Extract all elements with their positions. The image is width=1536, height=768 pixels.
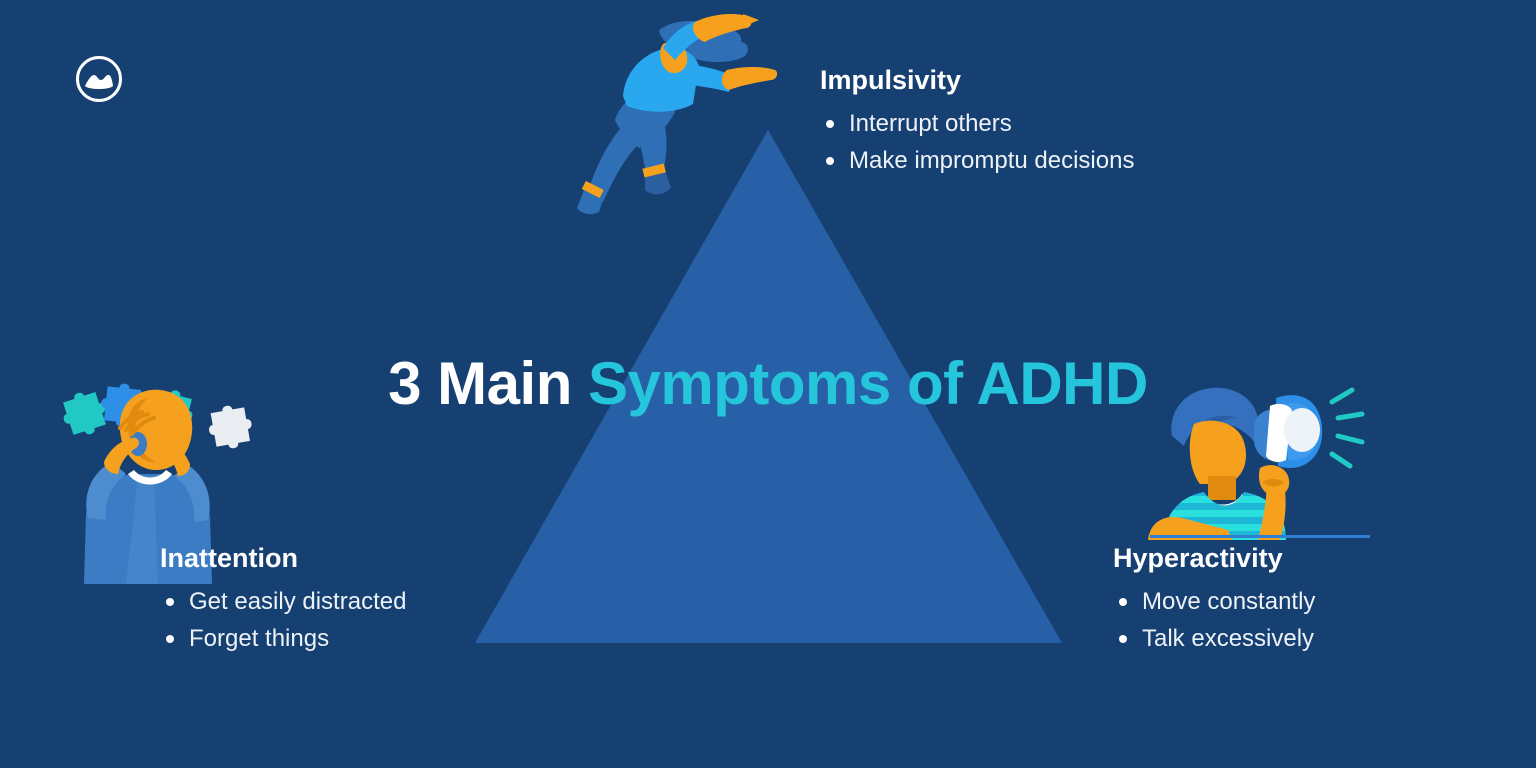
bullet-text: Get easily distracted	[189, 588, 406, 615]
symptom-bullet-list-inattention: Get easily distracted Forget things	[160, 583, 406, 657]
list-item: Get easily distracted	[160, 583, 406, 620]
symptom-block-hyperactivity: Hyperactivity Move constantly Talk exces…	[1113, 542, 1315, 657]
bullet-text: Make impromptu decisions	[849, 147, 1134, 174]
list-item: Make impromptu decisions	[820, 142, 1134, 179]
page-title-part-cyan: Symptoms of ADHD	[588, 350, 1148, 417]
bullet-text: Talk excessively	[1142, 625, 1314, 652]
page-title-part-white: 3 Main	[388, 350, 588, 417]
symptom-title-impulsivity: Impulsivity	[820, 64, 1134, 96]
bullet-dot-icon	[166, 598, 174, 606]
desk-line	[1150, 535, 1370, 538]
bullet-text: Forget things	[189, 625, 329, 652]
list-item: Forget things	[160, 620, 406, 657]
bullet-dot-icon	[826, 157, 834, 165]
list-item: Interrupt others	[820, 105, 1134, 142]
symptom-bullet-list-hyperactivity: Move constantly Talk excessively	[1113, 583, 1315, 657]
list-item: Talk excessively	[1113, 620, 1315, 657]
bullet-dot-icon	[1119, 635, 1127, 643]
symptom-block-inattention: Inattention Get easily distracted Forget…	[160, 542, 406, 657]
bullet-text: Interrupt others	[849, 110, 1012, 137]
page-title: 3 Main Symptoms of ADHD	[0, 352, 1536, 416]
symptom-title-inattention: Inattention	[160, 542, 406, 574]
bullet-dot-icon	[826, 120, 834, 128]
symptom-title-hyperactivity: Hyperactivity	[1113, 542, 1315, 574]
bullet-text: Move constantly	[1142, 588, 1315, 615]
bullet-dot-icon	[1119, 598, 1127, 606]
list-item: Move constantly	[1113, 583, 1315, 620]
symptom-bullet-list-impulsivity: Interrupt others Make impromptu decision…	[820, 105, 1134, 179]
bullet-dot-icon	[166, 635, 174, 643]
leaping-person-icon	[563, 8, 793, 223]
infographic-canvas: 3 Main Symptoms of ADHD Impulsivity Inte…	[0, 0, 1536, 768]
symptom-block-impulsivity: Impulsivity Interrupt others Make improm…	[820, 64, 1134, 179]
